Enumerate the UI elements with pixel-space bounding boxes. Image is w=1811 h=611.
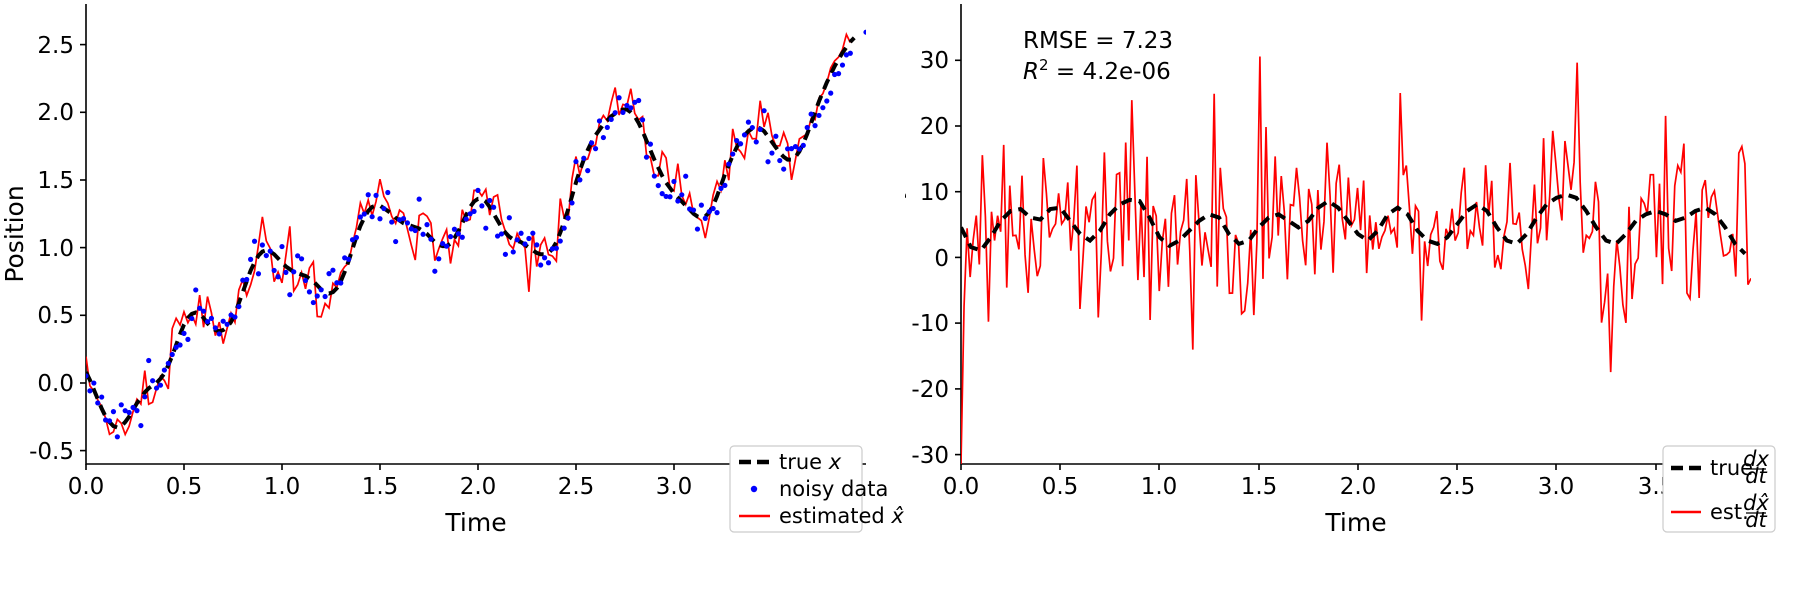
noisy-data-point [503, 252, 508, 257]
noisy-data-point [671, 179, 676, 184]
noisy-data-point [620, 110, 625, 115]
noisy-data-point [338, 280, 343, 285]
noisy-data-point [679, 192, 684, 197]
x-axis-label: Time [444, 508, 506, 537]
noisy-data-point [726, 161, 731, 166]
noisy-data-point [91, 380, 96, 385]
noisy-data-point [185, 337, 190, 342]
x-axis-ticks: 0.0 0.5 1.0 1.5 2.0 2.5 3.0 3.5 [68, 464, 791, 500]
x-tick-label: 0.5 [166, 474, 203, 500]
noisy-data-point [581, 156, 586, 161]
noisy-data-point [675, 198, 680, 203]
y-tick-label: 10 [920, 180, 949, 206]
noisy-data-point [150, 378, 155, 383]
noisy-data-point [562, 226, 567, 231]
noisy-data-point [538, 262, 543, 267]
noisy-data-point [511, 249, 516, 254]
rmse-annotation: RMSE = 7.23 [1023, 28, 1173, 54]
noisy-data-point [370, 214, 375, 219]
noisy-data-point [189, 316, 194, 321]
noisy-data-point [667, 194, 672, 199]
noisy-data-point [542, 255, 547, 260]
noisy-data-point [99, 394, 104, 399]
noisy-data-point [730, 151, 735, 156]
noisy-data-point [605, 125, 610, 130]
noisy-data-point [170, 352, 175, 357]
y-tick-label: 2.0 [37, 100, 74, 126]
x-tick-label: 3.0 [1538, 474, 1575, 500]
noisy-data-point [464, 216, 469, 221]
noisy-data-point [777, 158, 782, 163]
noisy-data-point [162, 367, 167, 372]
noisy-data-point [546, 260, 551, 265]
noisy-data-point [193, 287, 198, 292]
noisy-data-point [299, 256, 304, 261]
svg-text:dt: dt [1745, 464, 1767, 488]
noisy-data-point [699, 203, 704, 208]
noisy-data-point [479, 203, 484, 208]
noisy-data-point [311, 300, 316, 305]
y-axis-ticks: -0.5 0.0 0.5 1.0 1.5 2.0 2.5 [29, 33, 86, 465]
noisy-data-point [573, 159, 578, 164]
velocity-legend[interactable]: true dx dt est. dx̂ dt [1663, 446, 1775, 532]
noisy-data-point [283, 270, 288, 275]
noisy-data-point [609, 117, 614, 122]
noisy-data-point [585, 168, 590, 173]
noisy-data-point [158, 383, 163, 388]
r2-value: 4.2e-06 [1082, 59, 1170, 85]
noisy-data-point [499, 231, 504, 236]
noisy-data-point [714, 210, 719, 215]
noisy-data-point [750, 125, 755, 130]
noisy-data-point [420, 232, 425, 237]
noisy-data-point [801, 143, 806, 148]
x-tick-label: 3.0 [656, 474, 693, 500]
noisy-data-point [859, 0, 864, 3]
noisy-data-point [323, 294, 328, 299]
y-tick-label: 20 [920, 114, 949, 140]
noisy-data-point [515, 237, 520, 242]
y-tick-label: -20 [911, 377, 949, 403]
noisy-data-point [460, 235, 465, 240]
noisy-data-point [683, 174, 688, 179]
noisy-data-point [518, 231, 523, 236]
noisy-data-point [691, 207, 696, 212]
noisy-data-point [848, 51, 853, 56]
y-tick-label: 0 [934, 246, 949, 272]
noisy-data-point [436, 256, 441, 261]
noisy-data-point [456, 231, 461, 236]
noisy-data-point [656, 183, 661, 188]
noisy-data-point [362, 211, 367, 216]
x-axis-ticks: 0.0 0.5 1.0 1.5 2.0 2.5 3.0 3.5 [943, 464, 1675, 500]
noisy-data-point [809, 111, 814, 116]
noisy-data-point [507, 215, 512, 220]
noisy-data-point [824, 98, 829, 103]
noisy-data-point [816, 113, 821, 118]
noisy-data-point [597, 118, 602, 123]
noisy-data-point [754, 139, 759, 144]
noisy-data-point [566, 215, 571, 220]
noisy-data-point [530, 231, 535, 236]
noisy-data-point [287, 292, 292, 297]
noisy-data-point [711, 206, 716, 211]
legend-swatch-blue-dot [751, 486, 757, 492]
noisy-data-point [279, 244, 284, 249]
noisy-data-point [863, 30, 868, 35]
noisy-data-point [554, 246, 559, 251]
noisy-data-point [558, 238, 563, 243]
noisy-data-point [424, 222, 429, 227]
noisy-data-point [593, 146, 598, 151]
noisy-data-point [413, 228, 418, 233]
x-axis-label: Time [1324, 508, 1386, 537]
velocity-plot-svg: 30 20 10 0 -10 -20 -30 0.0 0.5 1.0 [905, 0, 1811, 611]
y-tick-label: -30 [911, 443, 949, 469]
noisy-data-point [381, 206, 386, 211]
legend-label-noisy-data: noisy data [779, 477, 888, 501]
y-tick-label: -10 [911, 311, 949, 337]
noisy-data-point [616, 95, 621, 100]
noisy-data-point [373, 193, 378, 198]
noisy-data-point [428, 237, 433, 242]
y-tick-label: -0.5 [29, 439, 74, 465]
noisy-data-point [209, 316, 214, 321]
noisy-data-point [522, 241, 527, 246]
y-tick-label: 2.5 [37, 33, 74, 59]
noisy-data-point [232, 314, 237, 319]
legend-frac-dxhat-dt: dx̂ dt [1743, 491, 1769, 532]
noisy-data-point [236, 304, 241, 309]
x-tick-label: 1.0 [1141, 474, 1178, 500]
noisy-data-point [577, 177, 582, 182]
noisy-data-point [225, 322, 230, 327]
noisy-data-point [166, 361, 171, 366]
noisy-data-point [648, 142, 653, 147]
noisy-data-point [346, 257, 351, 262]
y-tick-label: 1.5 [37, 168, 74, 194]
y-tick-label: 1.0 [37, 236, 74, 262]
noisy-data-point [146, 358, 151, 363]
svg-text:dt: dt [1745, 508, 1767, 532]
noisy-data-point [303, 278, 308, 283]
y-tick-label: 0.5 [37, 303, 74, 329]
noisy-data-point [95, 400, 100, 405]
noisy-data-point [111, 409, 116, 414]
x-tick-label: 2.0 [460, 474, 497, 500]
noisy-data-point [260, 242, 265, 247]
noisy-data-point [805, 125, 810, 130]
noisy-data-point [444, 244, 449, 249]
noisy-data-point [852, 0, 857, 3]
noisy-data-point [291, 269, 296, 274]
x-tick-label: 0.5 [1042, 474, 1079, 500]
noisy-data-point [526, 236, 531, 241]
noisy-data-point [401, 216, 406, 221]
x-tick-label: 1.0 [264, 474, 301, 500]
legend-label-true-x: true x [779, 450, 842, 474]
y-tick-label: 0.0 [37, 371, 74, 397]
noisy-data-point [746, 120, 751, 125]
noisy-data-point [134, 408, 139, 413]
noisy-data-point [722, 183, 727, 188]
position-legend[interactable]: true x noisy data estimated x̂ [730, 446, 904, 532]
noisy-data-point [644, 155, 649, 160]
noisy-data-point [119, 402, 124, 407]
noisy-data-point [268, 249, 273, 254]
noisy-data-point [761, 108, 766, 113]
noisy-data-point [483, 226, 488, 231]
noisy-data-point [87, 388, 92, 393]
noisy-data-point [628, 105, 633, 110]
y-tick-label: 30 [920, 48, 949, 74]
noisy-data-point [448, 234, 453, 239]
noisy-data-point [138, 423, 143, 428]
noisy-data-point [491, 205, 496, 210]
position-plot-svg: -0.5 0.0 0.5 1.0 1.5 2.0 2.5 0.0 0.5 [0, 0, 905, 611]
noisy-data-point [405, 220, 410, 225]
noisy-data-point [115, 434, 120, 439]
noisy-data-point [840, 62, 845, 67]
noisy-data-point [534, 242, 539, 247]
noisy-data-point [452, 227, 457, 232]
noisy-data-point [385, 190, 390, 195]
position-panel: -0.5 0.0 0.5 1.0 1.5 2.0 2.5 0.0 0.5 [0, 0, 905, 611]
noisy-data-point [181, 331, 186, 336]
x-tick-label: 2.0 [1340, 474, 1377, 500]
noisy-data-point [773, 134, 778, 139]
noisy-data-point [275, 274, 280, 279]
r2-exponent: 2 [1039, 56, 1049, 74]
noisy-data-point [769, 150, 774, 155]
y-axis-label: Velocity [905, 185, 907, 283]
noisy-data-point [213, 325, 218, 330]
noisy-data-point [315, 293, 320, 298]
noisy-data-point [569, 200, 574, 205]
noisy-data-point [487, 198, 492, 203]
noisy-data-point [256, 271, 261, 276]
noisy-data-point [142, 394, 147, 399]
x-tick-label: 2.5 [1439, 474, 1476, 500]
x-tick-label: 0.0 [943, 474, 980, 500]
noisy-data-point [326, 271, 331, 276]
noisy-data-point [471, 209, 476, 214]
y-axis-ticks: 30 20 10 0 -10 -20 -30 [911, 48, 961, 469]
noisy-data-point [836, 71, 841, 76]
noisy-data-point [820, 105, 825, 110]
noisy-data-point [83, 373, 88, 378]
noisy-data-point [738, 141, 743, 146]
noisy-data-point [652, 173, 657, 178]
figure-canvas: -0.5 0.0 0.5 1.0 1.5 2.0 2.5 0.0 0.5 [0, 0, 1811, 611]
noisy-data-point [330, 268, 335, 273]
noisy-data-point [217, 331, 222, 336]
noisy-data-point [797, 146, 802, 151]
x-tick-label: 2.5 [558, 474, 595, 500]
noisy-data-point [695, 226, 700, 231]
noisy-data-point [366, 192, 371, 197]
noisy-data-point [589, 140, 594, 145]
noisy-data-point [264, 253, 269, 258]
noisy-data-point [177, 342, 182, 347]
noisy-data-point [601, 135, 606, 140]
x-tick-label: 0.0 [68, 474, 105, 500]
noisy-data-point [475, 188, 480, 193]
noisy-data-point [703, 216, 708, 221]
noisy-data-point [432, 269, 437, 274]
noisy-data-point [319, 287, 324, 292]
noisy-data-point [354, 235, 359, 240]
x-tick-label: 1.5 [1241, 474, 1278, 500]
noisy-data-point [828, 91, 833, 96]
noisy-data-point [393, 239, 398, 244]
noisy-data-point [389, 219, 394, 224]
velocity-panel: 30 20 10 0 -10 -20 -30 0.0 0.5 1.0 [905, 0, 1811, 611]
legend-frac-dxdt: dx dt [1743, 447, 1769, 488]
y-axis-label: Position [0, 185, 29, 282]
noisy-data-point [856, 0, 861, 3]
r2-symbol: R [1023, 59, 1039, 85]
noisy-data-point [307, 289, 312, 294]
noisy-data-point [640, 117, 645, 122]
noisy-data-point [742, 132, 747, 137]
noisy-data-point [252, 239, 257, 244]
noisy-data-point [244, 277, 249, 282]
noisy-data-point [201, 309, 206, 314]
legend-label-estimated-x: estimated x̂ [779, 504, 904, 528]
noisy-data-point [781, 166, 786, 171]
plot-area-background [86, 4, 866, 464]
noisy-data-point [613, 110, 618, 115]
noisy-data-point [248, 257, 253, 262]
noisy-data-point [107, 418, 112, 423]
noisy-data-point [272, 268, 277, 273]
noisy-data-point [377, 216, 382, 221]
noisy-data-point [636, 98, 641, 103]
noisy-data-point [127, 410, 132, 415]
noisy-data-point [417, 197, 422, 202]
noisy-data-point [812, 123, 817, 128]
noisy-data-point [765, 159, 770, 164]
x-tick-label: 1.5 [362, 474, 399, 500]
noisy-data-point [758, 127, 763, 132]
